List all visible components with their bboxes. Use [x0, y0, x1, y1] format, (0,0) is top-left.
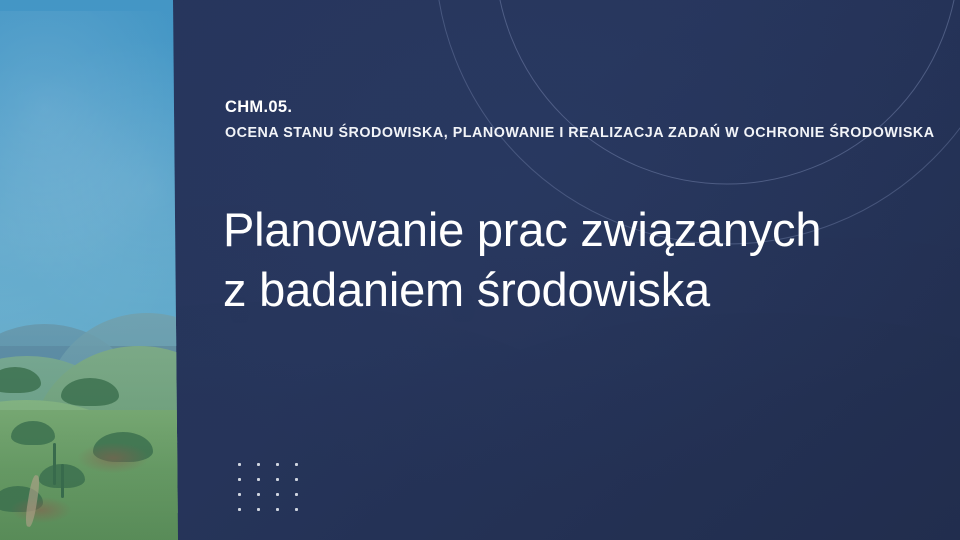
- decorative-dot-grid: [238, 463, 314, 523]
- dot: [295, 493, 298, 496]
- left-photo-strip: [0, 0, 178, 540]
- slide-text-block: CHM.05. OCENA STANU ŚRODOWISKA, PLANOWAN…: [225, 0, 925, 540]
- headline-line-1: Planowanie prac związanych: [223, 203, 821, 256]
- dot: [257, 508, 260, 511]
- title-slide: CHM.05. OCENA STANU ŚRODOWISKA, PLANOWAN…: [0, 0, 960, 540]
- dot: [276, 493, 279, 496]
- strip-blue-tint: [0, 0, 178, 540]
- dot: [238, 493, 241, 496]
- dot: [238, 463, 241, 466]
- dot: [257, 493, 260, 496]
- dot: [257, 478, 260, 481]
- module-code: CHM.05.: [225, 99, 292, 116]
- dot: [276, 463, 279, 466]
- dot: [295, 463, 298, 466]
- dot: [238, 508, 241, 511]
- slide-headline: Planowanie prac związanych z badaniem śr…: [223, 200, 923, 319]
- module-subtitle: OCENA STANU ŚRODOWISKA, PLANOWANIE I REA…: [225, 126, 935, 140]
- dot: [276, 478, 279, 481]
- dot: [295, 508, 298, 511]
- dot: [238, 478, 241, 481]
- headline-line-2: z badaniem środowiska: [223, 260, 923, 320]
- dot: [276, 508, 279, 511]
- dot: [295, 478, 298, 481]
- dot: [257, 463, 260, 466]
